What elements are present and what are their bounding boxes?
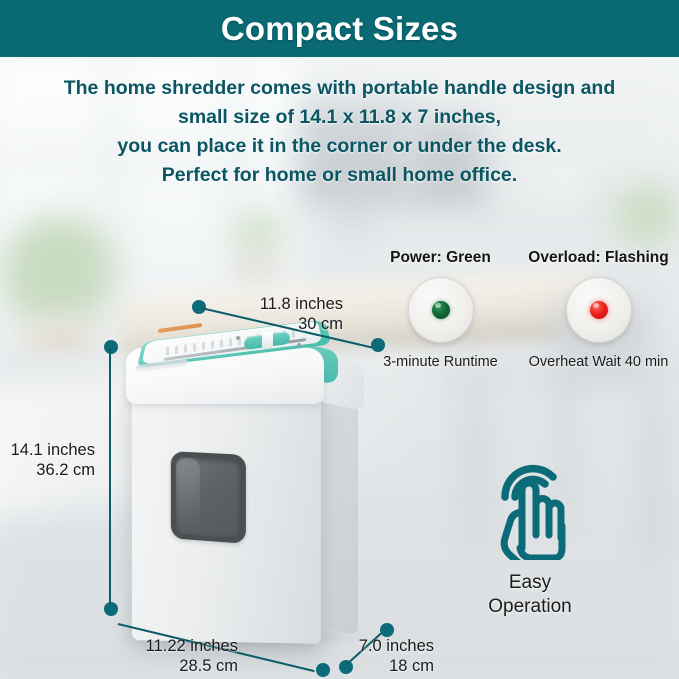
product-infographic: Compact Sizes The home shredder comes wi… [0,0,679,679]
dim-dot-height-top [104,340,118,354]
feature-label-line2: Operation [488,596,571,617]
dim-dot-depth-top [380,623,394,637]
window-gloss [176,457,200,526]
dim-dot-bottom-right [316,663,330,677]
shelf-plant [612,182,679,248]
desk-cup [243,248,273,288]
dim-height-cm: 36.2 cm [36,461,95,479]
page-title: Compact Sizes [221,10,458,48]
feature-easy-operation: Easy Operation [455,450,605,619]
indicator-power-disc [408,277,474,343]
dim-height-inches: 14.1 inches [11,441,95,459]
description-line-4: Perfect for home or small home office. [0,161,679,190]
header-banner: Compact Sizes [0,0,679,57]
red-led-icon [590,301,608,319]
dim-top-width-cm: 30 cm [298,315,343,333]
shredder-product-image [118,318,378,648]
indicator-overload-caption: Overheat Wait 40 min [518,354,679,370]
indicator-power-caption: 3-minute Runtime [363,354,518,370]
indicator-overload: Overload: Flashing Overheat Wait 40 min [518,249,679,370]
indicator-power-title: Power: Green [363,249,518,267]
monitor-stand [342,203,366,229]
description-block: The home shredder comes with portable ha… [0,74,679,190]
dim-label-bottom-width: 11.22 inches 28.5 cm [110,636,238,676]
indicator-overload-title: Overload: Flashing [518,249,679,267]
dim-line-height [109,348,111,610]
green-led-icon [432,301,450,319]
feature-label-line1: Easy [509,572,551,593]
dim-top-width-inches: 11.8 inches [260,295,343,313]
dim-depth-cm: 18 cm [389,657,434,675]
dim-label-height: 14.1 inches 36.2 cm [0,440,95,480]
table-leg [648,390,660,560]
dim-depth-inches: 7.0 inches [359,637,434,655]
description-line-3: you can place it in the corner or under … [0,132,679,161]
dim-label-depth: 7.0 inches 18 cm [330,636,434,676]
dim-bottom-width-cm: 28.5 cm [179,657,238,675]
indicator-overload-disc [566,277,632,343]
indicator-power: Power: Green 3-minute Runtime [363,249,518,370]
dim-dot-height-bottom [104,602,118,616]
description-line-2: small size of 14.1 x 11.8 x 7 inches, [0,103,679,132]
dim-label-top-width: 11.8 inches 30 cm [228,294,343,334]
hand-tap-icon [475,450,585,560]
brand-logo [158,323,202,333]
description-line-1: The home shredder comes with portable ha… [0,74,679,103]
feature-label: Easy Operation [455,571,605,619]
dim-bottom-width-inches: 11.22 inches [146,637,238,655]
power-switch-knob[interactable] [262,331,273,350]
